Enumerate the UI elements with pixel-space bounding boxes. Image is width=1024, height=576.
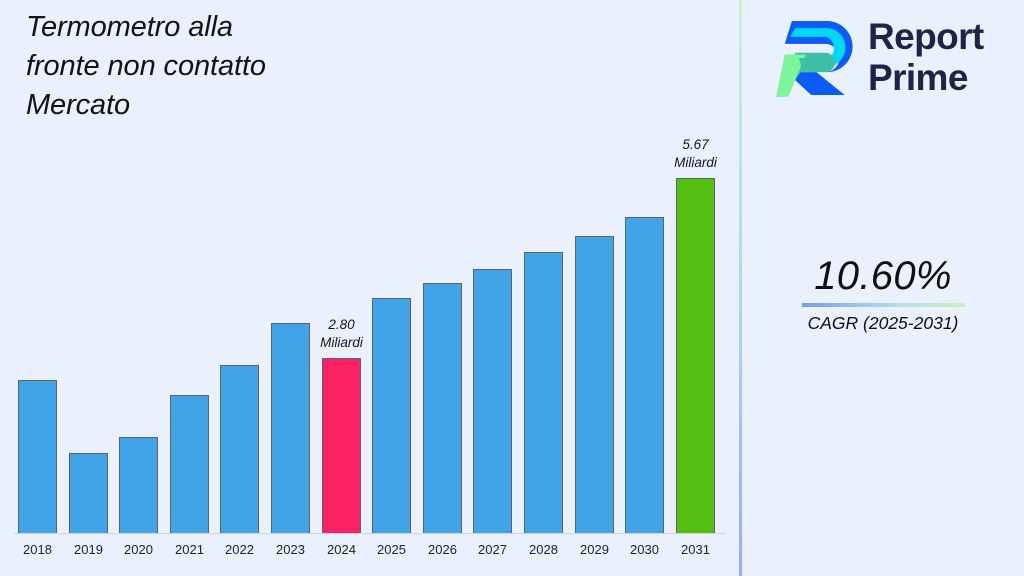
report-prime-monogram-icon: [776, 14, 864, 102]
brand-name-line1: Report: [868, 16, 984, 57]
bar-2031: [676, 178, 715, 533]
bar-label-2031: 5.67 Miliardi: [645, 136, 746, 172]
bar-2030: [625, 217, 664, 533]
brand-logo: Report Prime: [776, 12, 1024, 102]
cagr-divider-rule: [802, 303, 965, 307]
bar-2027: [473, 269, 512, 533]
bar-2024: [322, 358, 361, 533]
brand-wordmark: Report Prime: [868, 16, 984, 98]
x-tick-2031: 2031: [664, 542, 727, 557]
bar-2021: [170, 395, 209, 533]
bar-2020: [119, 437, 158, 533]
brand-name-line2: Prime: [868, 57, 984, 98]
bar-2022: [220, 365, 259, 533]
chart-panel: Termometro alla fronte non contatto Merc…: [0, 0, 740, 576]
bar-2023: [271, 323, 310, 533]
bar-2018: [18, 380, 57, 533]
cagr-block: 10.60% CAGR (2025-2031): [742, 252, 1024, 335]
bar-2025: [372, 298, 411, 533]
bar-chart-plot-area: 2.80 Miliardi5.67 Miliardi 2018201920202…: [0, 0, 740, 576]
bar-2028: [524, 252, 563, 533]
brand-panel: Report Prime 10.60% CAGR (2025-2031): [742, 0, 1024, 576]
page-root: Termometro alla fronte non contatto Merc…: [0, 0, 1024, 576]
bar-2019: [69, 453, 108, 533]
bar-2029: [575, 236, 614, 533]
x-axis-line: [14, 533, 726, 534]
bar-2026: [423, 283, 462, 533]
cagr-caption: CAGR (2025-2031): [742, 311, 1024, 335]
cagr-value: 10.60%: [742, 252, 1024, 300]
